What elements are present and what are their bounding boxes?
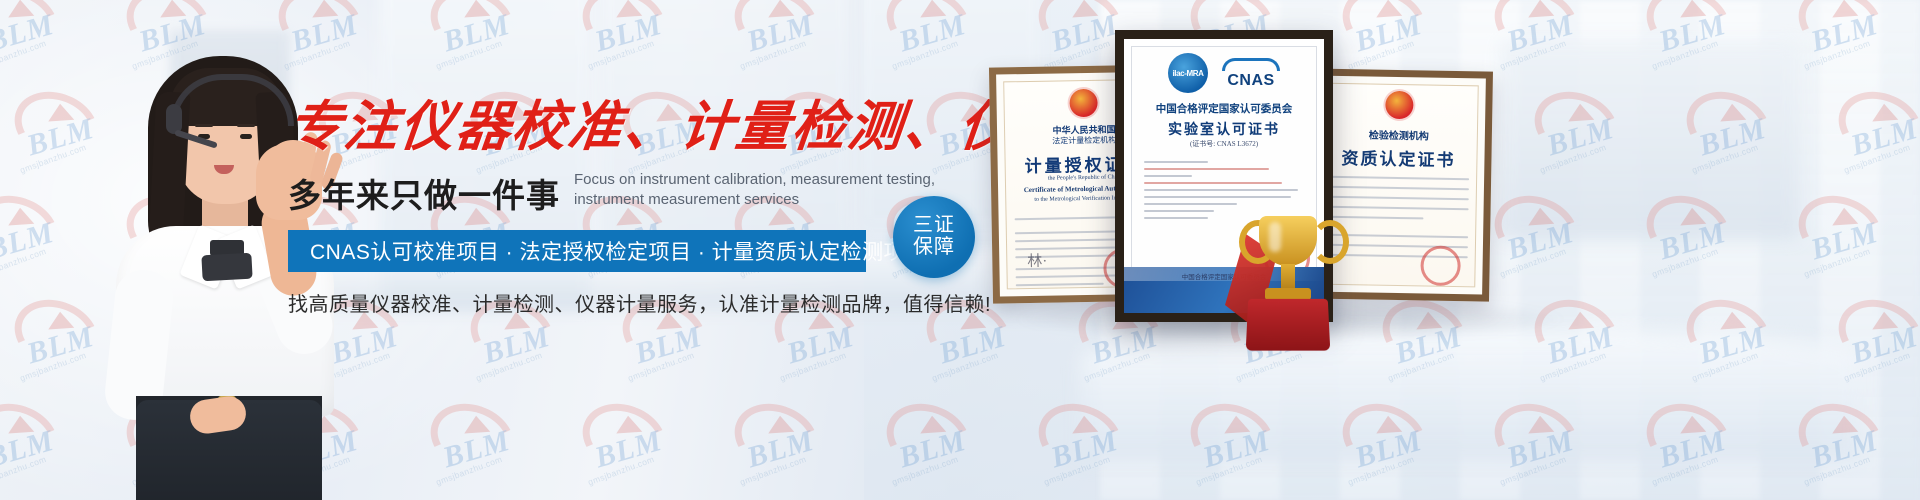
cnas-body-line xyxy=(1144,217,1208,219)
headline-copy-block: 专注仪器校准、计量检测、仪表计量服务 多年来只做一件事 Focus on ins… xyxy=(288,100,988,317)
subheadline-chinese: 多年来只做一件事 xyxy=(288,179,560,212)
services-blue-bar-text: CNAS认可校准项目 · 法定授权检定项目 · 计量资质认定检测项目 xyxy=(310,236,927,266)
presenter-eye-right xyxy=(240,134,252,139)
bottom-tagline: 找高质量仪器校准、计量检测、仪器计量服务，认准计量检测品牌，值得信赖! xyxy=(288,288,988,317)
subheadline-english-line1: Focus on instrument calibration, measure… xyxy=(574,170,935,190)
cnas-body-line xyxy=(1144,210,1214,212)
three-certificates-badge: 三证 保障 xyxy=(893,196,975,278)
trophy-highlight xyxy=(1269,222,1281,252)
trophy-cup xyxy=(1259,216,1317,266)
badge-line-2: 保障 xyxy=(913,237,955,259)
cnas-body-line xyxy=(1144,175,1192,177)
signature-mark: 林· xyxy=(1027,250,1047,271)
subheadline-english: Focus on instrument calibration, measure… xyxy=(574,170,935,212)
ilac-mra-logo-icon: ilac-MRA xyxy=(1168,53,1208,93)
cert-right-main-title: 资质认定证书 xyxy=(1312,144,1484,172)
headset-earpiece-icon xyxy=(166,104,182,134)
subheadline-english-line2: instrument measurement services xyxy=(574,190,935,210)
certificates-group: 中华人民共和国 法定计量检定机构 计量授权证书 the People's Rep… xyxy=(975,20,1615,350)
cnas-org-name: 中国合格评定国家认可委员会 xyxy=(1124,101,1324,116)
cnas-arc-icon xyxy=(1222,58,1280,71)
cnas-body-line xyxy=(1144,203,1237,205)
cnas-logo-text: CNAS xyxy=(1227,73,1274,89)
cnas-logo-row: ilac-MRA CNAS xyxy=(1168,53,1280,93)
promo-banner: BLMgmsjbanzhu.comBLMgmsjbanzhu.comBLMgms… xyxy=(0,0,1920,500)
presenter-tie-body xyxy=(201,253,252,282)
cnas-main-title: 实验室认可证书 xyxy=(1124,119,1324,139)
cert-right-title-cn: 检验检测机构 xyxy=(1313,126,1485,144)
headline-title: 专注仪器校准、计量检测、仪表计量服务 xyxy=(285,100,991,154)
cnas-body-line xyxy=(1144,182,1282,184)
cnas-body-line xyxy=(1144,196,1291,198)
trophy-icon xyxy=(1221,206,1353,356)
trophy-base xyxy=(1246,299,1331,351)
cnas-logo: CNAS xyxy=(1222,58,1280,89)
cnas-registration-number: (证书号: CNAS L3672) xyxy=(1124,139,1324,149)
subheadline-row: 多年来只做一件事 Focus on instrument calibration… xyxy=(288,170,988,212)
cnas-body-line xyxy=(1144,168,1269,170)
services-blue-bar: CNAS认可校准项目 · 法定授权检定项目 · 计量资质认定检测项目 xyxy=(288,230,866,272)
cnas-body-line xyxy=(1144,189,1298,191)
trophy-stem xyxy=(1281,264,1295,290)
cnas-body-line xyxy=(1144,161,1208,163)
badge-line-1: 三证 xyxy=(913,215,955,237)
